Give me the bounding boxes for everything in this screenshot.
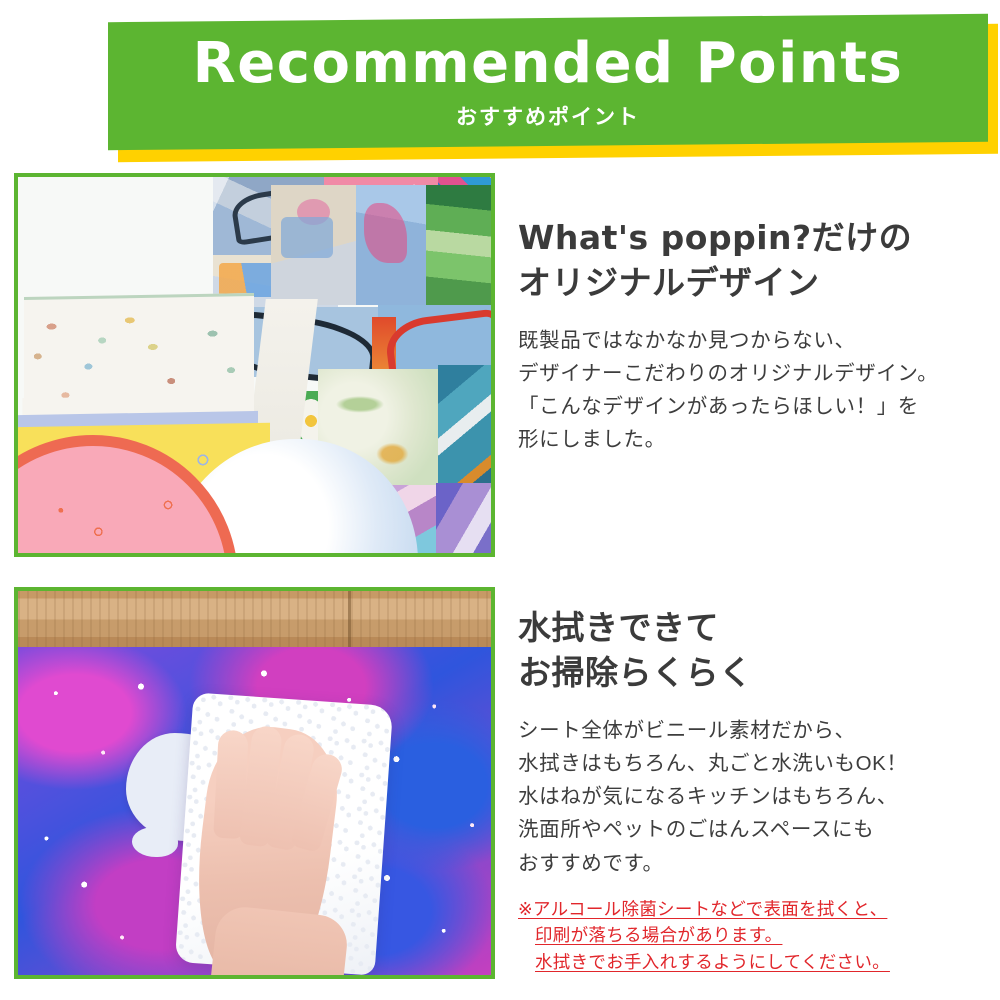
page-subtitle: おすすめポイント xyxy=(456,101,640,131)
wood-floor xyxy=(18,591,491,653)
design-text-column: What's poppin?だけの オリジナルデザイン 既製品ではなかなか見つか… xyxy=(518,216,988,457)
design-heading-line-2: オリジナルデザイン xyxy=(518,261,988,306)
clean-body-line-1: シート全体がビニール素材だから、 xyxy=(518,714,988,747)
design-heading: What's poppin?だけの オリジナルデザイン xyxy=(518,216,988,306)
design-photo-collage xyxy=(18,177,491,553)
clean-caution-note: ※アルコール除菌シートなどで表面を拭くと、 印刷が落ちる場合があります。 水拭き… xyxy=(518,896,988,976)
design-body-line-3: 「こんなデザインがあったらほしい！」を xyxy=(518,390,988,423)
section-easy-cleaning: 水拭きできて お掃除らくらく シート全体がビニール素材だから、 水拭きはもちろん… xyxy=(0,578,1000,1000)
graffiti-sheet-5 xyxy=(356,185,428,305)
clean-heading-line-2: お掃除らくらく xyxy=(518,651,988,696)
clean-body-line-3: 水はねが気になるキッチンはもちろん、 xyxy=(518,780,988,813)
marble-sheet-purple xyxy=(436,483,491,553)
clean-photo-frame xyxy=(14,587,495,979)
green-stripe-sheet xyxy=(426,185,491,305)
design-photo-frame xyxy=(14,173,495,557)
marble-sheet-teal xyxy=(438,365,491,489)
caution-line-1: ※アルコール除菌シートなどで表面を拭くと、 xyxy=(518,896,988,923)
banner-green-plate: Recommended Points おすすめポイント xyxy=(108,14,988,150)
design-body-line-2: デザイナーこだわりのオリジナルデザイン。 xyxy=(518,357,988,390)
design-body-line-1: 既製品ではなかなか見つからない、 xyxy=(518,324,988,357)
caution-line-2: 印刷が落ちる場合があります。 xyxy=(518,922,988,949)
clean-body: シート全体がビニール素材だから、 水拭きはもちろん、丸ごと水洗いもOK！ 水はね… xyxy=(518,714,988,880)
clean-body-line-5: おすすめです。 xyxy=(518,847,988,880)
clean-body-line-2: 水拭きはもちろん、丸ごと水洗いもOK！ xyxy=(518,747,988,780)
page-title: Recommended Points xyxy=(193,36,904,92)
clean-photo-scene xyxy=(18,591,491,975)
section-original-design: What's poppin?だけの オリジナルデザイン 既製品ではなかなか見つか… xyxy=(0,168,1000,568)
clean-body-line-4: 洗面所やペットのごはんスペースにも xyxy=(518,813,988,846)
clean-heading: 水拭きできて お掃除らくらく xyxy=(518,606,988,696)
caution-line-3: 水拭きでお手入れするようにしてください。 xyxy=(518,949,988,976)
header-banner: Recommended Points おすすめポイント xyxy=(0,0,1000,168)
clean-text-column: 水拭きできて お掃除らくらく シート全体がビニール素材だから、 水拭きはもちろん… xyxy=(518,606,988,976)
design-body-line-4: 形にしました。 xyxy=(518,423,988,456)
clean-heading-line-1: 水拭きできて xyxy=(518,606,988,651)
graffiti-sheet-4 xyxy=(271,185,357,305)
design-heading-line-1: What's poppin?だけの xyxy=(518,216,988,261)
design-body: 既製品ではなかなか見つからない、 デザイナーこだわりのオリジナルデザイン。 「こ… xyxy=(518,324,988,457)
